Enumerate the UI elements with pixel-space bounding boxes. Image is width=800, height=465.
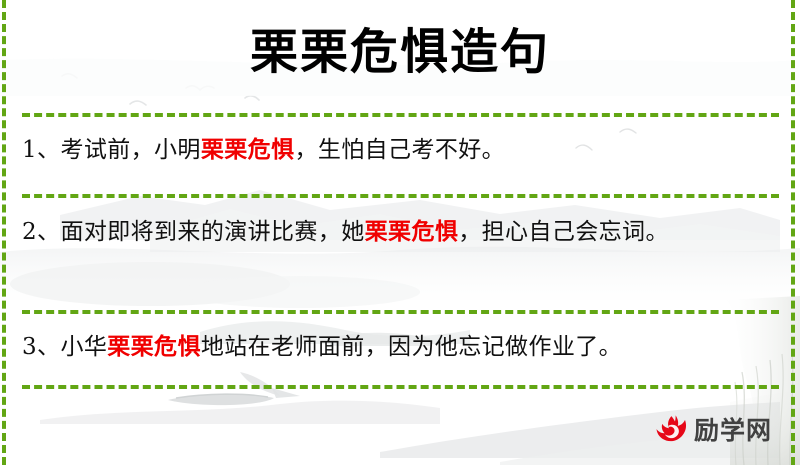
highlighted-idiom: 栗栗危惧 (201, 136, 295, 163)
sentence-index: 2、 (22, 219, 60, 245)
sentence-index: 3、 (22, 334, 60, 360)
separator-1 (22, 113, 779, 117)
sentence-text: ，担心自己会忘词。 (458, 219, 669, 245)
sentence-item-2: 2、面对即将到来的演讲比赛，她栗栗危惧，担心自己会忘词。 (22, 212, 774, 252)
sentence-text: ，生怕自己考不好。 (294, 137, 505, 163)
red-swirl-flame-icon (652, 412, 688, 448)
sentence-index: 1、 (22, 137, 60, 163)
sentence-text: 考试前，小明 (60, 137, 200, 163)
worksheet-page: 栗栗危惧造句 1、考试前，小明栗栗危惧，生怕自己考不好。 2、面对即将到来的演讲… (0, 0, 800, 465)
sentence-item-3: 3、小华栗栗危惧地站在老师面前，因为他忘记做作业了。 (22, 327, 774, 367)
watermark-logo-text: 励学网 (694, 418, 772, 443)
highlighted-idiom: 栗栗危惧 (107, 333, 201, 360)
page-title: 栗栗危惧造句 (0, 22, 800, 82)
separator-4 (22, 385, 779, 389)
separator-2 (22, 194, 779, 198)
sentence-item-1: 1、考试前，小明栗栗危惧，生怕自己考不好。 (22, 130, 774, 170)
highlighted-idiom: 栗栗危惧 (365, 218, 459, 245)
sentence-text: 小华 (60, 334, 107, 360)
sentence-text: 地站在老师面前，因为他忘记做作业了。 (201, 334, 622, 360)
sentence-text: 面对即将到来的演讲比赛，她 (60, 219, 364, 245)
watermark-logo: 励学网 (652, 412, 772, 448)
separator-3 (22, 310, 779, 314)
